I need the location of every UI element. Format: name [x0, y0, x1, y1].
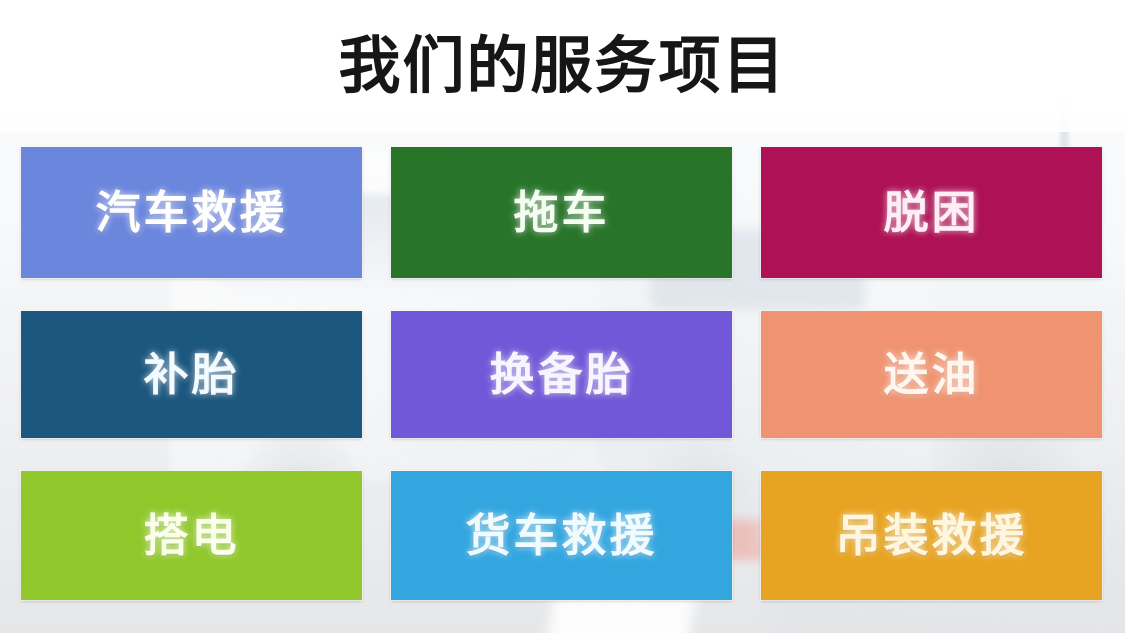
- service-tile-tire-repair[interactable]: 补胎: [21, 311, 362, 438]
- service-poster: 我们的服务项目 汽车救援拖车脱困补胎换备胎送油搭电货车救援吊装救援: [0, 0, 1125, 633]
- service-tile-label: 送油: [883, 352, 979, 397]
- service-tile-truck-rescue[interactable]: 货车救援: [391, 471, 732, 600]
- service-tile-label: 搭电: [143, 513, 239, 558]
- service-tile-jump-start[interactable]: 搭电: [21, 471, 362, 600]
- title-bar: 我们的服务项目: [0, 0, 1125, 132]
- service-tile-extrication[interactable]: 脱困: [761, 147, 1102, 278]
- service-tile-hoisting-rescue[interactable]: 吊装救援: [761, 471, 1102, 600]
- service-tile-label: 拖车: [513, 190, 609, 235]
- service-tile-label: 换备胎: [489, 352, 633, 397]
- service-tile-spare-tire-change[interactable]: 换备胎: [391, 311, 732, 438]
- service-tile-label: 吊装救援: [835, 513, 1027, 558]
- service-tile-label: 货车救援: [465, 513, 657, 558]
- service-tile-label: 汽车救援: [95, 190, 287, 235]
- service-tile-label: 补胎: [143, 352, 239, 397]
- service-tile-car-rescue[interactable]: 汽车救援: [21, 147, 362, 278]
- service-tile-tow-truck[interactable]: 拖车: [391, 147, 732, 278]
- service-grid: 汽车救援拖车脱困补胎换备胎送油搭电货车救援吊装救援: [21, 147, 1102, 615]
- service-tile-fuel-delivery[interactable]: 送油: [761, 311, 1102, 438]
- service-tile-label: 脱困: [883, 190, 979, 235]
- page-title: 我们的服务项目: [338, 35, 786, 97]
